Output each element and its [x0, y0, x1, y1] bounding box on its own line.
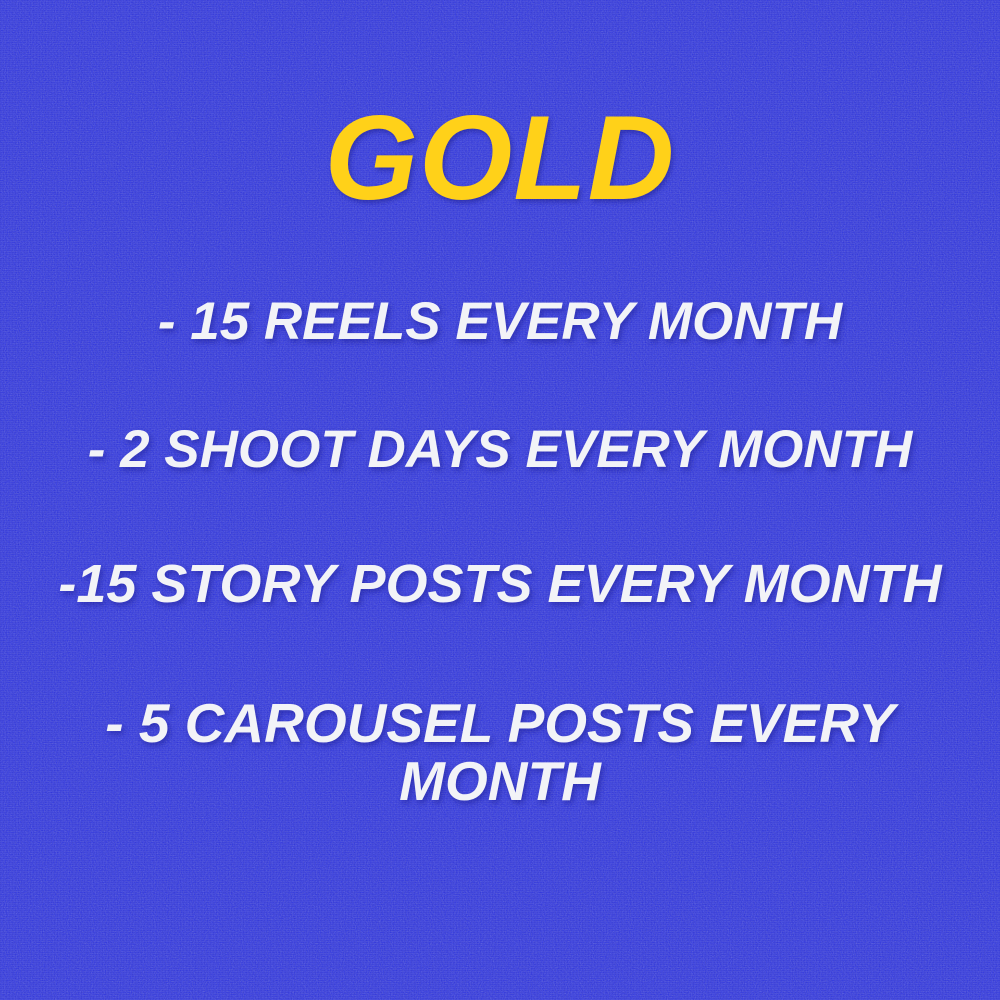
list-item: - 2 SHOOT DAYS EVERY MONTH	[20, 422, 980, 478]
list-item: -15 STORY POSTS EVERY MONTH	[20, 556, 980, 613]
list-item: - 5 CAROUSEL POSTS EVERY MONTH	[20, 694, 980, 811]
poster-content: GOLD - 15 REELS EVERY MONTH - 2 SHOOT DA…	[0, 0, 1000, 1000]
list-item: - 15 REELS EVERY MONTH	[20, 294, 980, 350]
gold-package-poster: GOLD - 15 REELS EVERY MONTH - 2 SHOOT DA…	[0, 0, 1000, 1000]
benefits-list: - 15 REELS EVERY MONTH - 2 SHOOT DAYS EV…	[0, 218, 1000, 810]
page-title: GOLD	[0, 98, 1000, 218]
